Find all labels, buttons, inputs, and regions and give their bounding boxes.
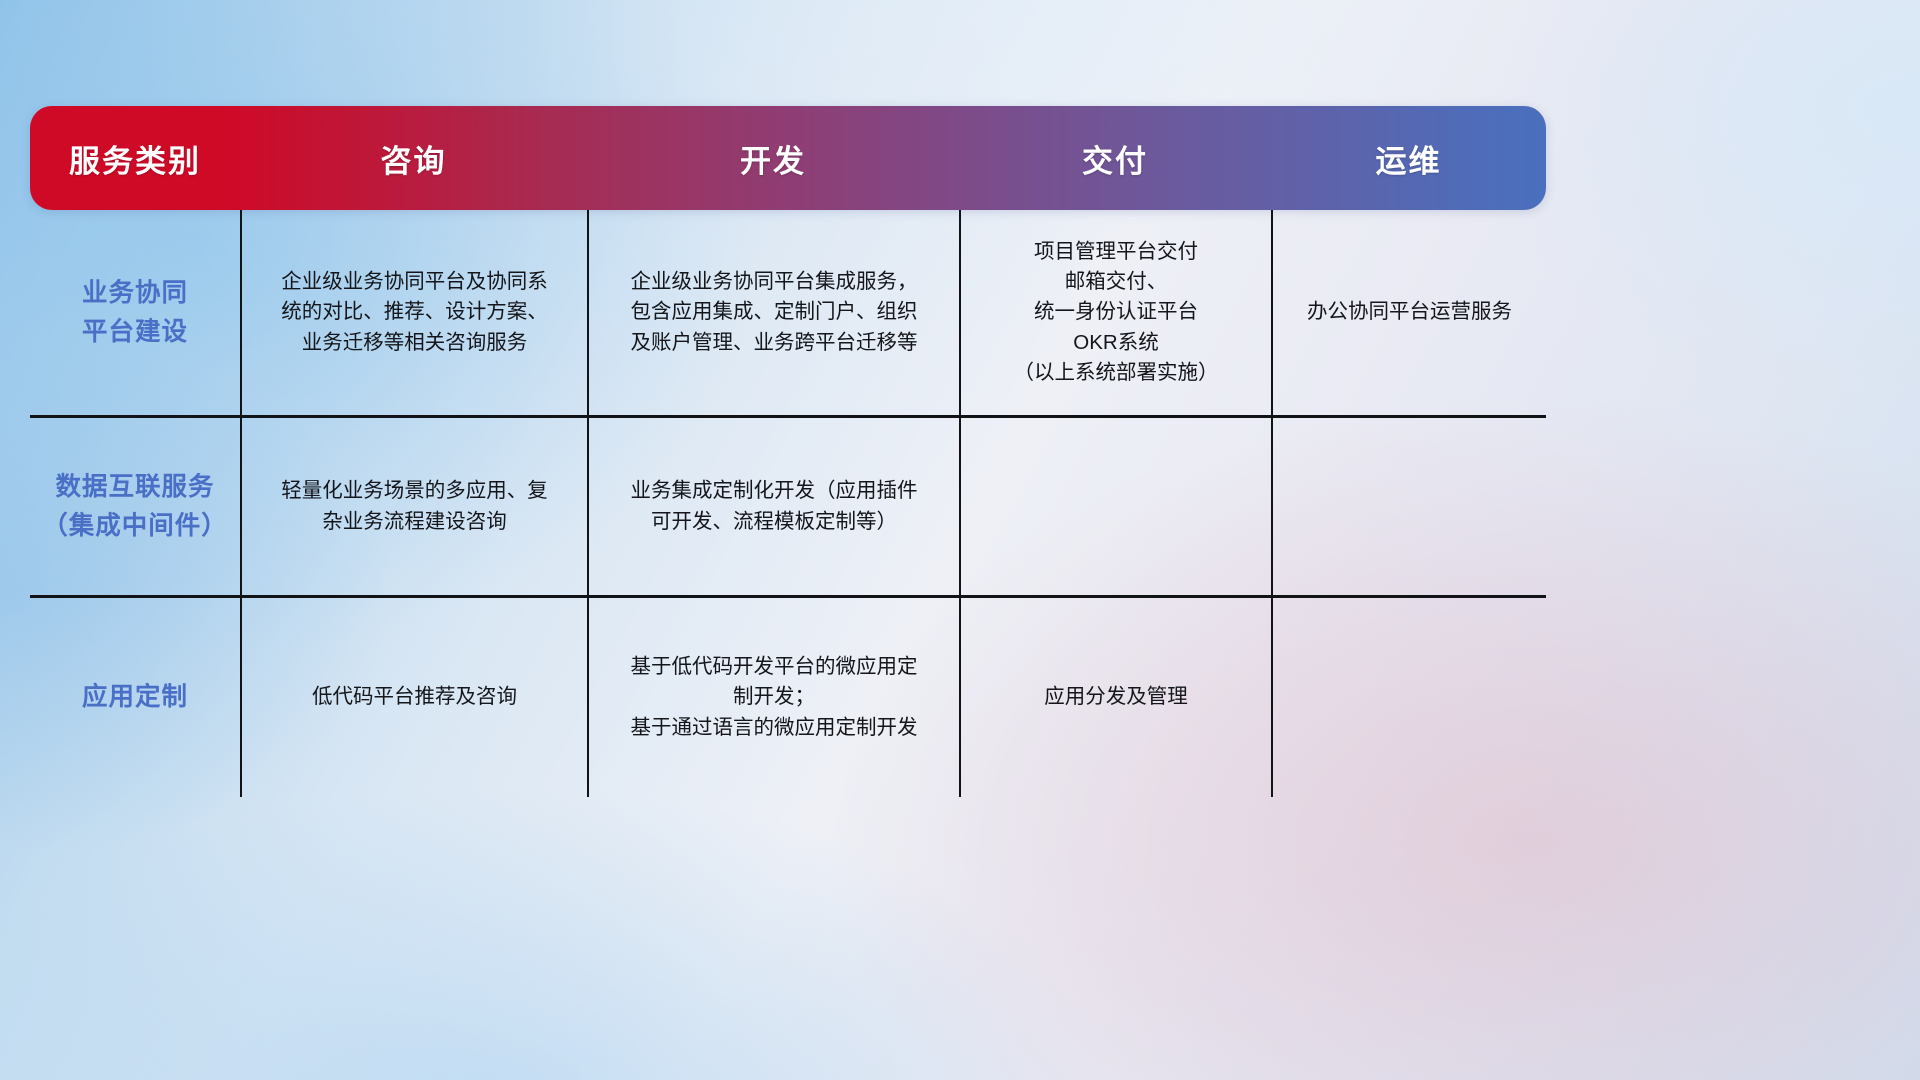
cell-development: 企业级业务协同平台集成服务， 包含应用集成、定制门户、组织 及账户管理、业务跨平… <box>587 210 959 415</box>
row-label-cell: 应用定制 <box>30 598 240 797</box>
column-header-service-category: 服务类别 <box>30 106 240 210</box>
cell-consulting: 企业级业务协同平台及协同系 统的对比、推荐、设计方案、 业务迁移等相关咨询服务 <box>240 210 587 415</box>
table-body: 业务协同 平台建设 企业级业务协同平台及协同系 统的对比、推荐、设计方案、 业务… <box>30 210 1546 797</box>
table-row: 应用定制 低代码平台推荐及咨询 基于低代码开发平台的微应用定 制开发； 基于通过… <box>30 598 1546 797</box>
cell-operations <box>1271 598 1546 797</box>
cell-delivery <box>959 418 1271 595</box>
cell-delivery: 项目管理平台交付 邮箱交付、 统一身份认证平台 OKR系统 （以上系统部署实施） <box>959 210 1271 415</box>
service-matrix-table: 服务类别 咨询 开发 交付 运维 业务协同 平台建设 企业级业务协同平台及协同系… <box>30 106 1546 797</box>
cell-operations: 办公协同平台运营服务 <box>1271 210 1546 415</box>
table-header-row: 服务类别 咨询 开发 交付 运维 <box>30 106 1546 210</box>
cell-development: 基于低代码开发平台的微应用定 制开发； 基于通过语言的微应用定制开发 <box>587 598 959 797</box>
column-header-consulting: 咨询 <box>240 106 587 210</box>
cell-consulting: 轻量化业务场景的多应用、复 杂业务流程建设咨询 <box>240 418 587 595</box>
table-row: 数据互联服务 （集成中间件） 轻量化业务场景的多应用、复 杂业务流程建设咨询 业… <box>30 418 1546 598</box>
column-header-delivery: 交付 <box>959 106 1271 210</box>
column-header-development: 开发 <box>587 106 959 210</box>
column-header-operations: 运维 <box>1271 106 1546 210</box>
row-label-cell: 数据互联服务 （集成中间件） <box>30 418 240 595</box>
cell-delivery: 应用分发及管理 <box>959 598 1271 797</box>
cell-operations <box>1271 418 1546 595</box>
table-row: 业务协同 平台建设 企业级业务协同平台及协同系 统的对比、推荐、设计方案、 业务… <box>30 210 1546 418</box>
row-label-text: 应用定制 <box>82 678 188 716</box>
row-label-cell: 业务协同 平台建设 <box>30 210 240 415</box>
row-label-text: 业务协同 平台建设 <box>82 274 188 351</box>
cell-consulting: 低代码平台推荐及咨询 <box>240 598 587 797</box>
row-label-text: 数据互联服务 （集成中间件） <box>42 468 228 545</box>
cell-development: 业务集成定制化开发（应用插件 可开发、流程模板定制等） <box>587 418 959 595</box>
